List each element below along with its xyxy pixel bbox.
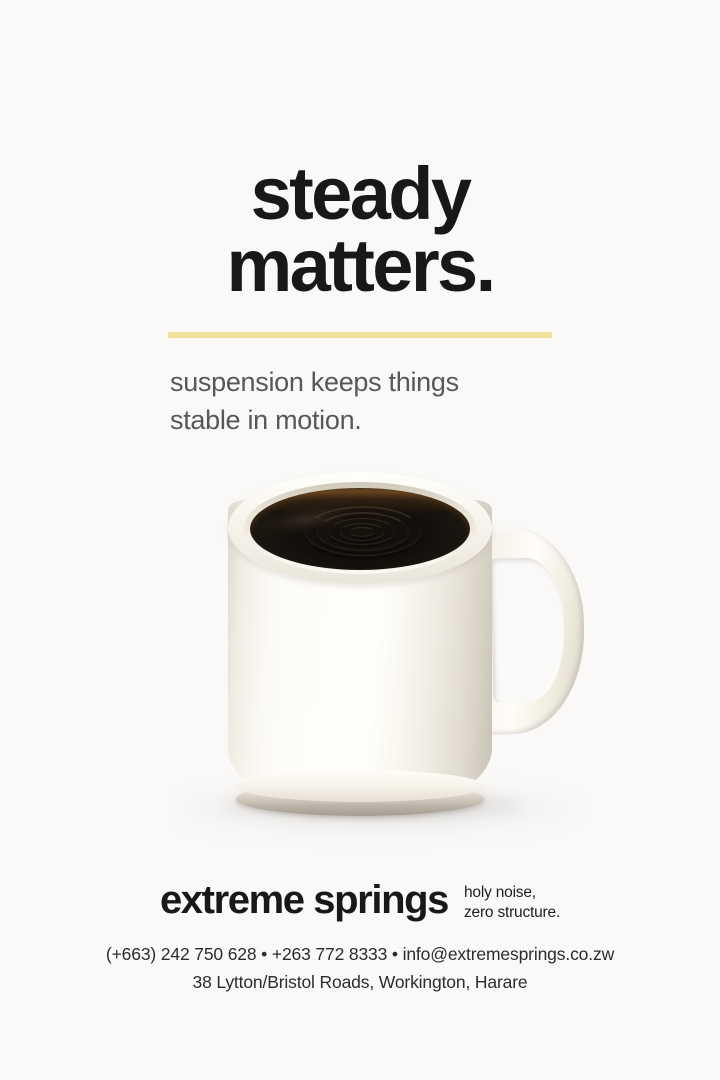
mug-base-highlight xyxy=(236,770,484,802)
poster-canvas: steady matters. suspension keeps things … xyxy=(0,0,720,1080)
address-line: 38 Lytton/Bristol Roads, Workington, Har… xyxy=(0,968,720,996)
coffee-ripple-ring xyxy=(349,527,375,538)
brand-tagline-line-1: holy noise, xyxy=(464,883,560,903)
coffee-surface xyxy=(250,488,470,570)
headline-line-2: matters. xyxy=(0,230,720,302)
accent-divider xyxy=(168,332,552,338)
page-title: steady matters. xyxy=(0,158,720,302)
subtitle: suspension keeps things stable in motion… xyxy=(170,363,590,440)
contact-line: (+663) 242 750 628 • +263 772 8333 • inf… xyxy=(0,940,720,968)
headline-block: steady matters. xyxy=(0,158,720,302)
brand-name: extreme springs xyxy=(160,880,448,920)
brand-lockup: extreme springs holy noise, zero structu… xyxy=(0,880,720,923)
coffee-mug-image xyxy=(0,430,720,850)
headline-line-1: steady xyxy=(0,158,720,230)
brand-tagline-line-2: zero structure. xyxy=(464,903,560,923)
contact-block: (+663) 242 750 628 • +263 772 8333 • inf… xyxy=(0,940,720,997)
subtitle-line-1: suspension keeps things xyxy=(170,363,590,401)
brand-tagline: holy noise, zero structure. xyxy=(464,880,560,923)
